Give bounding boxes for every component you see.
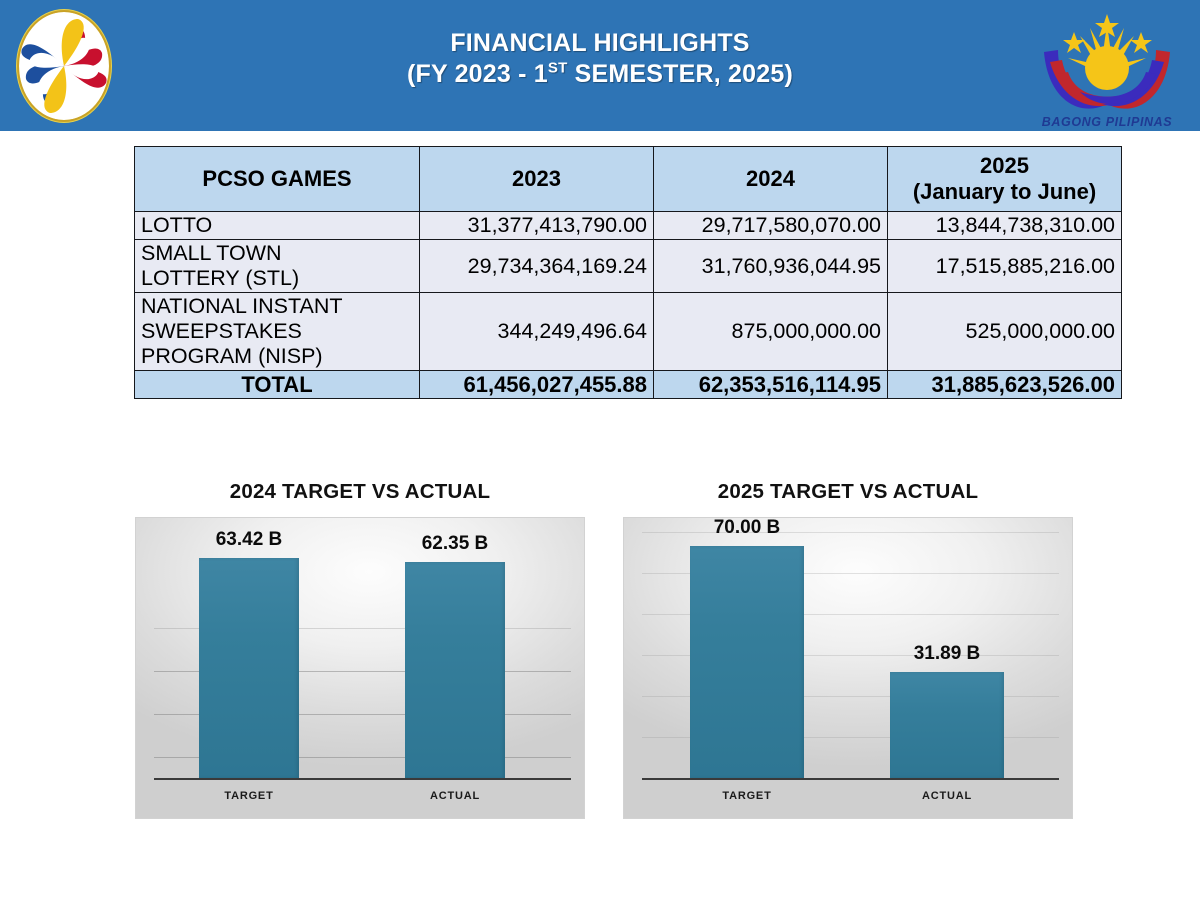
- pcso-logo: [12, 5, 116, 127]
- bagong-pilipinas-emblem: [1028, 4, 1186, 130]
- table-row: NATIONAL INSTANT SWEEPSTAKES PROGRAM (NI…: [135, 293, 1122, 371]
- chart-2024-target-vs-actual: 2024 TARGET VS ACTUAL 63.42 B TARGET 62.…: [136, 480, 584, 818]
- column-header-pcso-games: PCSO GAMES: [135, 147, 420, 212]
- title-line-1: FINANCIAL HIGHLIGHTS: [200, 28, 1000, 59]
- financial-table: PCSO GAMES 2023 2024 2025 (January to Ju…: [134, 146, 1122, 399]
- chart-2024-bar-actual: [405, 562, 505, 778]
- cell-nisp-2024: 875,000,000.00: [654, 293, 888, 371]
- table-row: LOTTO 31,377,413,790.00 29,717,580,070.0…: [135, 212, 1122, 240]
- chart-2024-category-target: TARGET: [199, 790, 299, 802]
- chart-2025-value-actual: 31.89 B: [877, 643, 1017, 665]
- column-header-2025-line1: 2025: [980, 153, 1029, 178]
- chart-2025-bar-actual: [890, 672, 1004, 778]
- cell-stl-2025: 17,515,885,216.00: [888, 240, 1122, 293]
- bagong-pilipinas-logo: BAGONG PILIPINAS: [1028, 4, 1186, 130]
- table-row: SMALL TOWN LOTTERY (STL) 29,734,364,169.…: [135, 240, 1122, 293]
- column-header-2025-line2: (January to June): [913, 179, 1096, 204]
- cell-total-2023: 61,456,027,455.88: [420, 371, 654, 399]
- cell-nisp-2025: 525,000,000.00: [888, 293, 1122, 371]
- cell-lotto-2025: 13,844,738,310.00: [888, 212, 1122, 240]
- column-header-2023: 2023: [420, 147, 654, 212]
- chart-2024-title: 2024 TARGET VS ACTUAL: [136, 480, 584, 504]
- chart-2025-category-target: TARGET: [690, 790, 804, 802]
- chart-2024-category-actual: ACTUAL: [405, 790, 505, 802]
- row-label-total: TOTAL: [135, 371, 420, 399]
- cell-lotto-2024: 29,717,580,070.00: [654, 212, 888, 240]
- title-line-2-pre: (FY 2023 - 1: [407, 60, 548, 88]
- chart-2024-value-actual: 62.35 B: [385, 533, 525, 555]
- financial-table-container: PCSO GAMES 2023 2024 2025 (January to Ju…: [134, 146, 1085, 399]
- chart-2024-plot-area: 63.42 B TARGET 62.35 B ACTUAL: [136, 518, 584, 818]
- chart-2025-value-target: 70.00 B: [677, 518, 817, 539]
- chart-2025-plot-area: 70.00 B TARGET 31.89 B ACTUAL: [624, 518, 1072, 818]
- page-title: FINANCIAL HIGHLIGHTS (FY 2023 - 1ST SEME…: [200, 28, 1000, 90]
- chart-2024-value-target: 63.42 B: [179, 529, 319, 551]
- cell-stl-2024: 31,760,936,044.95: [654, 240, 888, 293]
- table-body: LOTTO 31,377,413,790.00 29,717,580,070.0…: [135, 212, 1122, 399]
- chart-2024-bar-target: [199, 558, 299, 778]
- row-label-nisp: NATIONAL INSTANT SWEEPSTAKES PROGRAM (NI…: [135, 293, 420, 371]
- cell-nisp-2023: 344,249,496.64: [420, 293, 654, 371]
- column-header-2025: 2025 (January to June): [888, 147, 1122, 212]
- chart-2025-title: 2025 TARGET VS ACTUAL: [624, 480, 1072, 504]
- title-line-2: (FY 2023 - 1ST SEMESTER, 2025): [200, 59, 1000, 90]
- cell-stl-2023: 29,734,364,169.24: [420, 240, 654, 293]
- bagong-pilipinas-label: BAGONG PILIPINAS: [1028, 115, 1186, 129]
- header-banner: FINANCIAL HIGHLIGHTS (FY 2023 - 1ST SEME…: [0, 0, 1200, 131]
- cell-total-2025: 31,885,623,526.00: [888, 371, 1122, 399]
- chart-2025-bar-target: [690, 546, 804, 778]
- column-header-2024: 2024: [654, 147, 888, 212]
- row-label-stl: SMALL TOWN LOTTERY (STL): [135, 240, 420, 293]
- table-header: PCSO GAMES 2023 2024 2025 (January to Ju…: [135, 147, 1122, 212]
- cell-lotto-2023: 31,377,413,790.00: [420, 212, 654, 240]
- title-line-2-superscript: ST: [548, 60, 568, 77]
- cell-total-2024: 62,353,516,114.95: [654, 371, 888, 399]
- chart-2025-category-actual: ACTUAL: [890, 790, 1004, 802]
- table-header-row: PCSO GAMES 2023 2024 2025 (January to Ju…: [135, 147, 1122, 212]
- row-label-lotto: LOTTO: [135, 212, 420, 240]
- table-row-total: TOTAL 61,456,027,455.88 62,353,516,114.9…: [135, 371, 1122, 399]
- chart-2025-target-vs-actual: 2025 TARGET VS ACTUAL 70.00 B TARGET 31.…: [624, 480, 1072, 818]
- title-line-2-post: SEMESTER, 2025): [567, 60, 793, 88]
